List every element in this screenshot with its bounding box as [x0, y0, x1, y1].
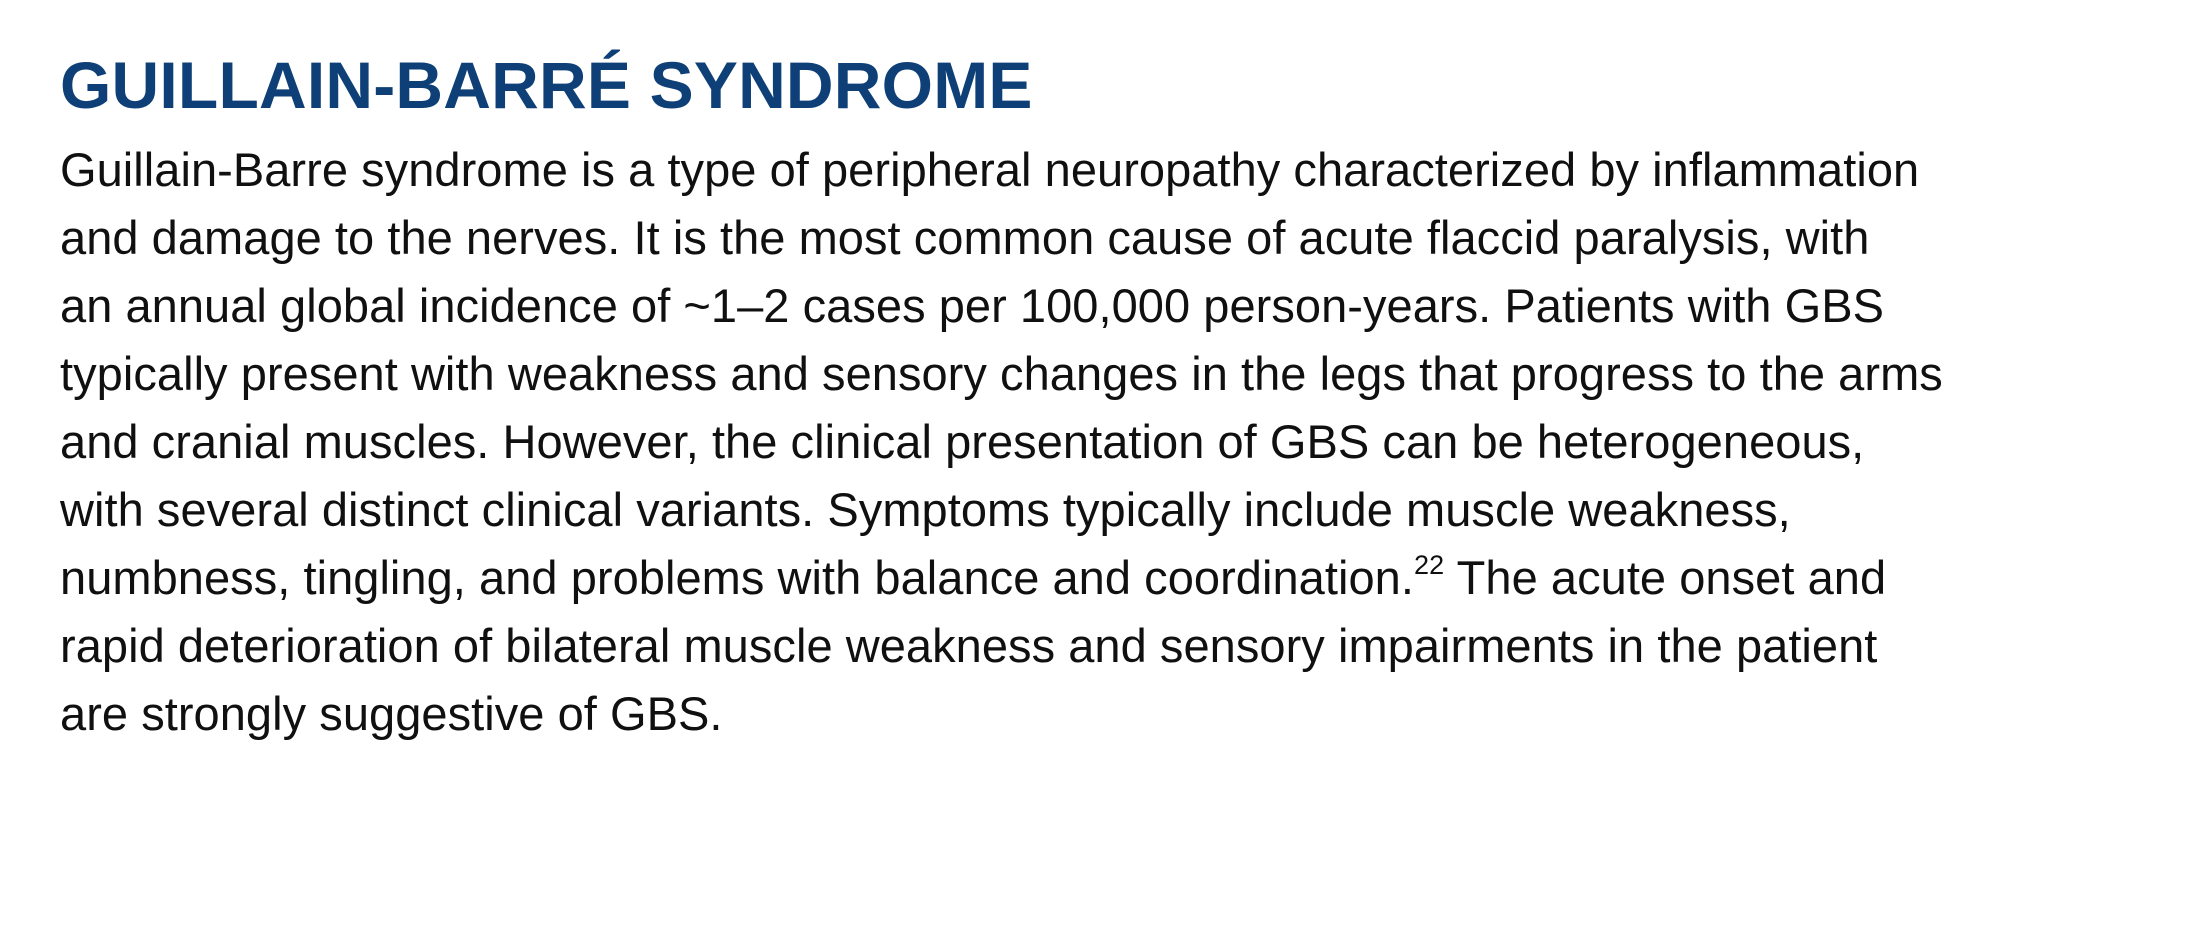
body-line: with several distinct clinical variants.…	[60, 476, 2140, 544]
body-line: are strongly suggestive of GBS.	[60, 680, 2140, 748]
body-line-text: The acute onset and	[1444, 551, 1886, 604]
body-line: and damage to the nerves. It is the most…	[60, 204, 2140, 272]
article-section: GUILLAIN-BARRÉ SYNDROME Guillain-Barre s…	[0, 0, 2200, 952]
body-line-text: numbness, tingling, and problems with ba…	[60, 551, 1414, 604]
body-line: and cranial muscles. However, the clinic…	[60, 408, 2140, 476]
body-line-with-citation: numbness, tingling, and problems with ba…	[60, 544, 2140, 612]
body-line: rapid deterioration of bilateral muscle …	[60, 612, 2140, 680]
body-line: Guillain-Barre syndrome is a type of per…	[60, 136, 2140, 204]
page-title: GUILLAIN-BARRÉ SYNDROME	[60, 48, 2140, 122]
citation-reference[interactable]: 22	[1414, 550, 1444, 580]
body-paragraph: Guillain-Barre syndrome is a type of per…	[60, 136, 2140, 748]
body-line: typically present with weakness and sens…	[60, 340, 2140, 408]
body-line: an annual global incidence of ~1–2 cases…	[60, 272, 2140, 340]
